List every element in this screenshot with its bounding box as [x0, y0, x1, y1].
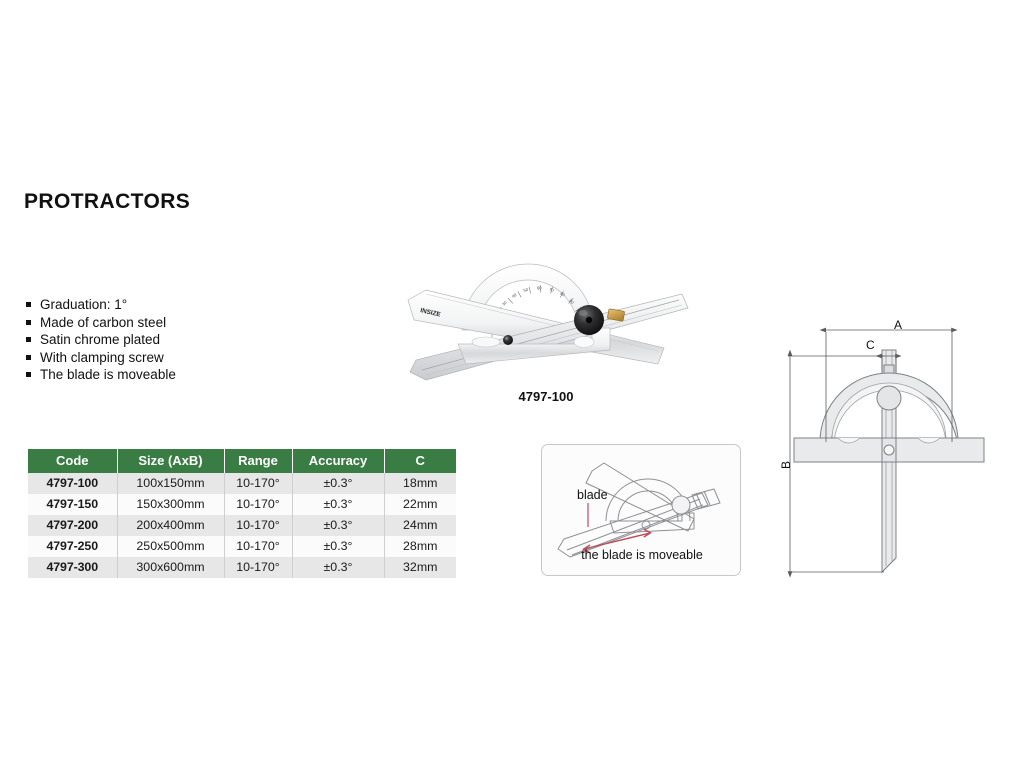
cell-code: 4797-300 [28, 557, 117, 578]
cell-c: 22mm [384, 494, 456, 515]
pivot-hole [884, 445, 894, 455]
feature-text: Made of carbon steel [40, 315, 166, 330]
cell-accuracy: ±0.3° [292, 557, 384, 578]
inset-illustration-box: blade the blade is moveable [541, 444, 741, 576]
svg-text:50: 50 [523, 287, 529, 293]
list-item: The blade is moveable [25, 366, 176, 384]
column-header-size: Size (AxB) [117, 449, 224, 473]
cell-size: 200x400mm [117, 515, 224, 536]
page-title: PROTRACTORS [24, 190, 190, 214]
knob-top-view [877, 386, 901, 410]
cell-range: 10-170° [224, 515, 292, 536]
feature-list: Graduation: 1° Made of carbon steel Sati… [25, 296, 176, 384]
product-photo-caption: 4797-100 [396, 389, 696, 404]
column-header-code: Code [28, 449, 117, 473]
feature-text: Graduation: 1° [40, 297, 127, 312]
cell-c: 28mm [384, 536, 456, 557]
inset-blade-label: blade [577, 488, 608, 502]
protractor-photo-illustration: 10 20 30 40 50 60 70 80 90 100 110 120 I… [396, 232, 696, 382]
cell-accuracy: ±0.3° [292, 473, 384, 494]
table-row: 4797-250 250x500mm 10-170° ±0.3° 28mm [28, 536, 456, 557]
inset-caption: the blade is moveable [542, 548, 742, 562]
knob-highlight [579, 310, 588, 316]
column-header-range: Range [224, 449, 292, 473]
body-cutout [472, 337, 500, 347]
feature-text: The blade is moveable [40, 367, 176, 382]
column-header-c: C [384, 449, 456, 473]
cell-c: 18mm [384, 473, 456, 494]
cell-accuracy: ±0.3° [292, 536, 384, 557]
specification-table: Code Size (AxB) Range Accuracy C 4797-10… [28, 449, 456, 578]
list-item: With clamping screw [25, 349, 176, 367]
list-item: Satin chrome plated [25, 331, 176, 349]
dimension-label-c: C [866, 338, 875, 352]
cell-code: 4797-150 [28, 494, 117, 515]
cell-accuracy: ±0.3° [292, 494, 384, 515]
cell-code: 4797-100 [28, 473, 117, 494]
table-row: 4797-100 100x150mm 10-170° ±0.3° 18mm [28, 473, 456, 494]
cell-range: 10-170° [224, 494, 292, 515]
table-row: 4797-300 300x600mm 10-170° ±0.3° 32mm [28, 557, 456, 578]
knob-center [586, 317, 592, 323]
cell-size: 300x600mm [117, 557, 224, 578]
cell-accuracy: ±0.3° [292, 515, 384, 536]
protractor-front-view [794, 350, 984, 572]
protractor-line-art [558, 463, 720, 557]
cell-size: 150x300mm [117, 494, 224, 515]
cell-size: 250x500mm [117, 536, 224, 557]
svg-text:60: 60 [537, 286, 542, 291]
list-item: Graduation: 1° [25, 296, 176, 314]
table-row: 4797-150 150x300mm 10-170° ±0.3° 22mm [28, 494, 456, 515]
column-header-accuracy: Accuracy [292, 449, 384, 473]
cell-range: 10-170° [224, 557, 292, 578]
cell-code: 4797-250 [28, 536, 117, 557]
body-cutout [574, 337, 594, 348]
svg-text:70: 70 [549, 287, 555, 293]
cell-range: 10-170° [224, 536, 292, 557]
feature-text: With clamping screw [40, 350, 164, 365]
dimension-label-a: A [894, 318, 902, 332]
list-item: Made of carbon steel [25, 314, 176, 332]
feature-text: Satin chrome plated [40, 332, 160, 347]
svg-text:30: 30 [501, 299, 508, 306]
dimension-diagram: A C B [780, 310, 1020, 590]
table-header-row: Code Size (AxB) Range Accuracy C [28, 449, 456, 473]
dimension-label-b: B [779, 461, 793, 469]
dimension-drawing [780, 310, 1020, 590]
cell-size: 100x150mm [117, 473, 224, 494]
svg-text:40: 40 [511, 292, 518, 299]
cell-code: 4797-200 [28, 515, 117, 536]
cell-range: 10-170° [224, 473, 292, 494]
cell-c: 24mm [384, 515, 456, 536]
pivot-screw [503, 335, 513, 345]
cell-c: 32mm [384, 557, 456, 578]
pivot-highlight [505, 337, 508, 340]
product-photo: 10 20 30 40 50 60 70 80 90 100 110 120 I… [396, 232, 696, 382]
table-row: 4797-200 200x400mm 10-170° ±0.3° 24mm [28, 515, 456, 536]
